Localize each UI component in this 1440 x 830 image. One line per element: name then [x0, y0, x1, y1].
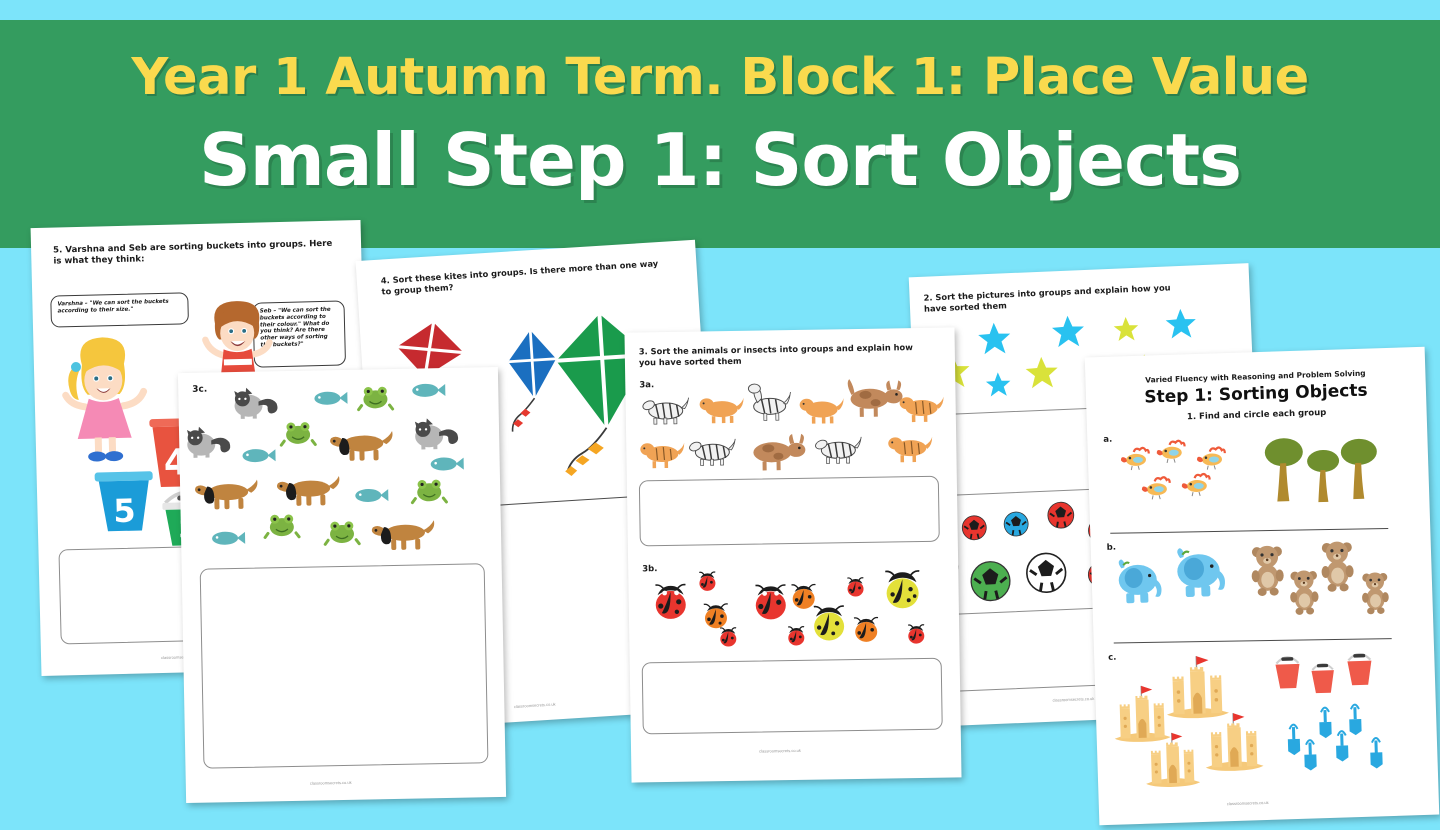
beach-spade-illustration	[1318, 704, 1333, 738]
header-band: Year 1 Autumn Term. Block 1: Place Value…	[0, 20, 1440, 248]
cow-illustration	[746, 430, 807, 471]
label-3b: 3b.	[642, 564, 657, 574]
bear-illustration	[1287, 568, 1320, 615]
cat-illustration	[411, 416, 462, 451]
bear-illustration	[1360, 570, 1391, 615]
lion-illustration	[697, 393, 743, 424]
zebra-illustration	[743, 382, 792, 421]
dog-illustration	[276, 470, 341, 507]
tiger-illustration	[638, 438, 684, 469]
star-yellow	[1024, 355, 1059, 390]
tiger-illustration	[886, 432, 932, 463]
bird-illustration	[1196, 447, 1227, 470]
speech-bubble-varshna: Varshna – "We can sort the buckets accor…	[50, 292, 189, 327]
ball-red	[1046, 501, 1075, 530]
ladybird-illustration	[650, 584, 691, 621]
beach-spade-illustration	[1348, 701, 1363, 735]
question-3-text: 3. Sort the animals or insects into grou…	[639, 342, 931, 368]
cow-illustration	[843, 376, 904, 417]
ball-red	[961, 514, 988, 541]
frog-illustration	[281, 418, 316, 447]
cat-illustration	[230, 385, 281, 420]
bird-illustration	[1141, 477, 1172, 500]
page-footer-2: classroomsecrets.co.uk	[1052, 696, 1094, 703]
fish-illustration	[411, 382, 445, 399]
ladybird-illustration	[785, 626, 807, 646]
tree-illustration	[1339, 434, 1379, 501]
frog-illustration	[412, 476, 447, 505]
frog-illustration	[265, 511, 300, 540]
beach-spade-illustration	[1369, 734, 1384, 768]
beach-spade-illustration	[1334, 727, 1349, 761]
sandcastle-illustration	[1160, 655, 1234, 719]
ladybird-illustration	[809, 605, 850, 642]
answer-box-3c[interactable]	[200, 563, 489, 768]
elephant-illustration	[1111, 555, 1164, 605]
ladybird-illustration	[851, 617, 881, 643]
star-blue	[1164, 307, 1197, 340]
ball-blue	[1003, 511, 1030, 538]
ladybird-illustration	[880, 570, 925, 611]
elephant-illustration	[1169, 543, 1229, 599]
zebra-illustration	[688, 435, 736, 466]
fish-illustration	[241, 447, 275, 464]
cat-illustration	[183, 424, 234, 459]
beach-bucket-illustration	[1308, 658, 1337, 695]
ladybird-illustration	[717, 627, 739, 647]
header-line-2: Small Step 1: Sort Objects	[0, 118, 1440, 202]
ladybird-illustration	[750, 584, 791, 621]
bucket-blue-5: 5	[92, 467, 156, 534]
page-footer-4: classroomsecrets.co.uk	[514, 701, 556, 709]
page-footer-3: classroomsecrets.co.uk	[759, 748, 801, 754]
lion-illustration	[797, 393, 843, 424]
dog-illustration	[329, 425, 394, 462]
label-3c: 3c.	[192, 385, 207, 395]
divider-line-b	[1114, 638, 1392, 644]
zebra-illustration	[641, 394, 689, 425]
frog-illustration	[358, 383, 393, 412]
bird-illustration	[1120, 447, 1151, 470]
fish-illustration	[354, 487, 388, 504]
zebra-illustration	[814, 433, 862, 464]
question-4-text: 4. Sort these kites into groups. Is ther…	[381, 257, 672, 296]
label-a: a.	[1103, 435, 1112, 445]
question-5-text: 5. Varshna and Seb are sorting buckets i…	[53, 239, 333, 268]
bird-illustration	[1155, 440, 1186, 463]
tiger-illustration	[897, 392, 943, 423]
tree-illustration	[1263, 433, 1305, 504]
ball-green	[969, 559, 1013, 603]
beach-spade-illustration	[1286, 721, 1301, 755]
poster-canvas: Year 1 Autumn Term. Block 1: Place Value…	[0, 0, 1440, 830]
bear-illustration	[1319, 539, 1357, 592]
divider-line-a	[1110, 528, 1388, 534]
worksheet-page-1[interactable]: Varied Fluency with Reasoning and Proble…	[1085, 347, 1440, 825]
label-b: b.	[1107, 543, 1117, 553]
fish-illustration	[430, 456, 464, 473]
ball-white	[1024, 551, 1068, 595]
question-1-text: 1. Find and circle each group	[1087, 405, 1427, 426]
page-footer-3c: classroomsecrets.co.uk	[310, 780, 352, 786]
bear-illustration	[1249, 543, 1287, 596]
ladybird-illustration	[905, 624, 927, 644]
sandcastle-illustration	[1141, 732, 1205, 788]
frog-illustration	[325, 518, 360, 547]
worksheet-page-3c[interactable]: 3c.	[178, 367, 506, 803]
page-footer-1: classroomsecrets.co.uk	[1227, 800, 1269, 806]
girl-character-illustration	[59, 329, 148, 463]
tree-illustration	[1306, 445, 1342, 504]
header-line-1: Year 1 Autumn Term. Block 1: Place Value	[0, 48, 1440, 107]
fish-illustration	[211, 530, 245, 547]
question-2-text: 2. Sort the pictures into groups and exp…	[923, 281, 1196, 314]
beach-bucket-illustration	[1272, 651, 1303, 690]
sandcastle-illustration	[1200, 712, 1268, 772]
ladybird-illustration	[844, 577, 866, 597]
dog-illustration	[371, 514, 436, 551]
answer-box-3a[interactable]	[639, 476, 940, 547]
label-3a: 3a.	[639, 380, 654, 390]
star-yellow	[1113, 316, 1140, 343]
answer-box-3b[interactable]	[642, 658, 943, 735]
star-blue	[985, 371, 1012, 398]
star-blue	[977, 321, 1012, 356]
worksheet-page-3[interactable]: 3. Sort the animals or insects into grou…	[624, 327, 961, 782]
bird-illustration	[1180, 474, 1211, 497]
star-blue	[1050, 314, 1085, 349]
ladybird-illustration	[696, 571, 718, 591]
fish-illustration	[313, 390, 347, 407]
svg-text:5: 5	[113, 492, 136, 531]
dog-illustration	[194, 474, 259, 511]
beach-bucket-illustration	[1344, 647, 1375, 688]
ladybird-illustration	[701, 603, 731, 629]
beach-spade-illustration	[1303, 736, 1318, 770]
label-c: c.	[1108, 653, 1117, 663]
